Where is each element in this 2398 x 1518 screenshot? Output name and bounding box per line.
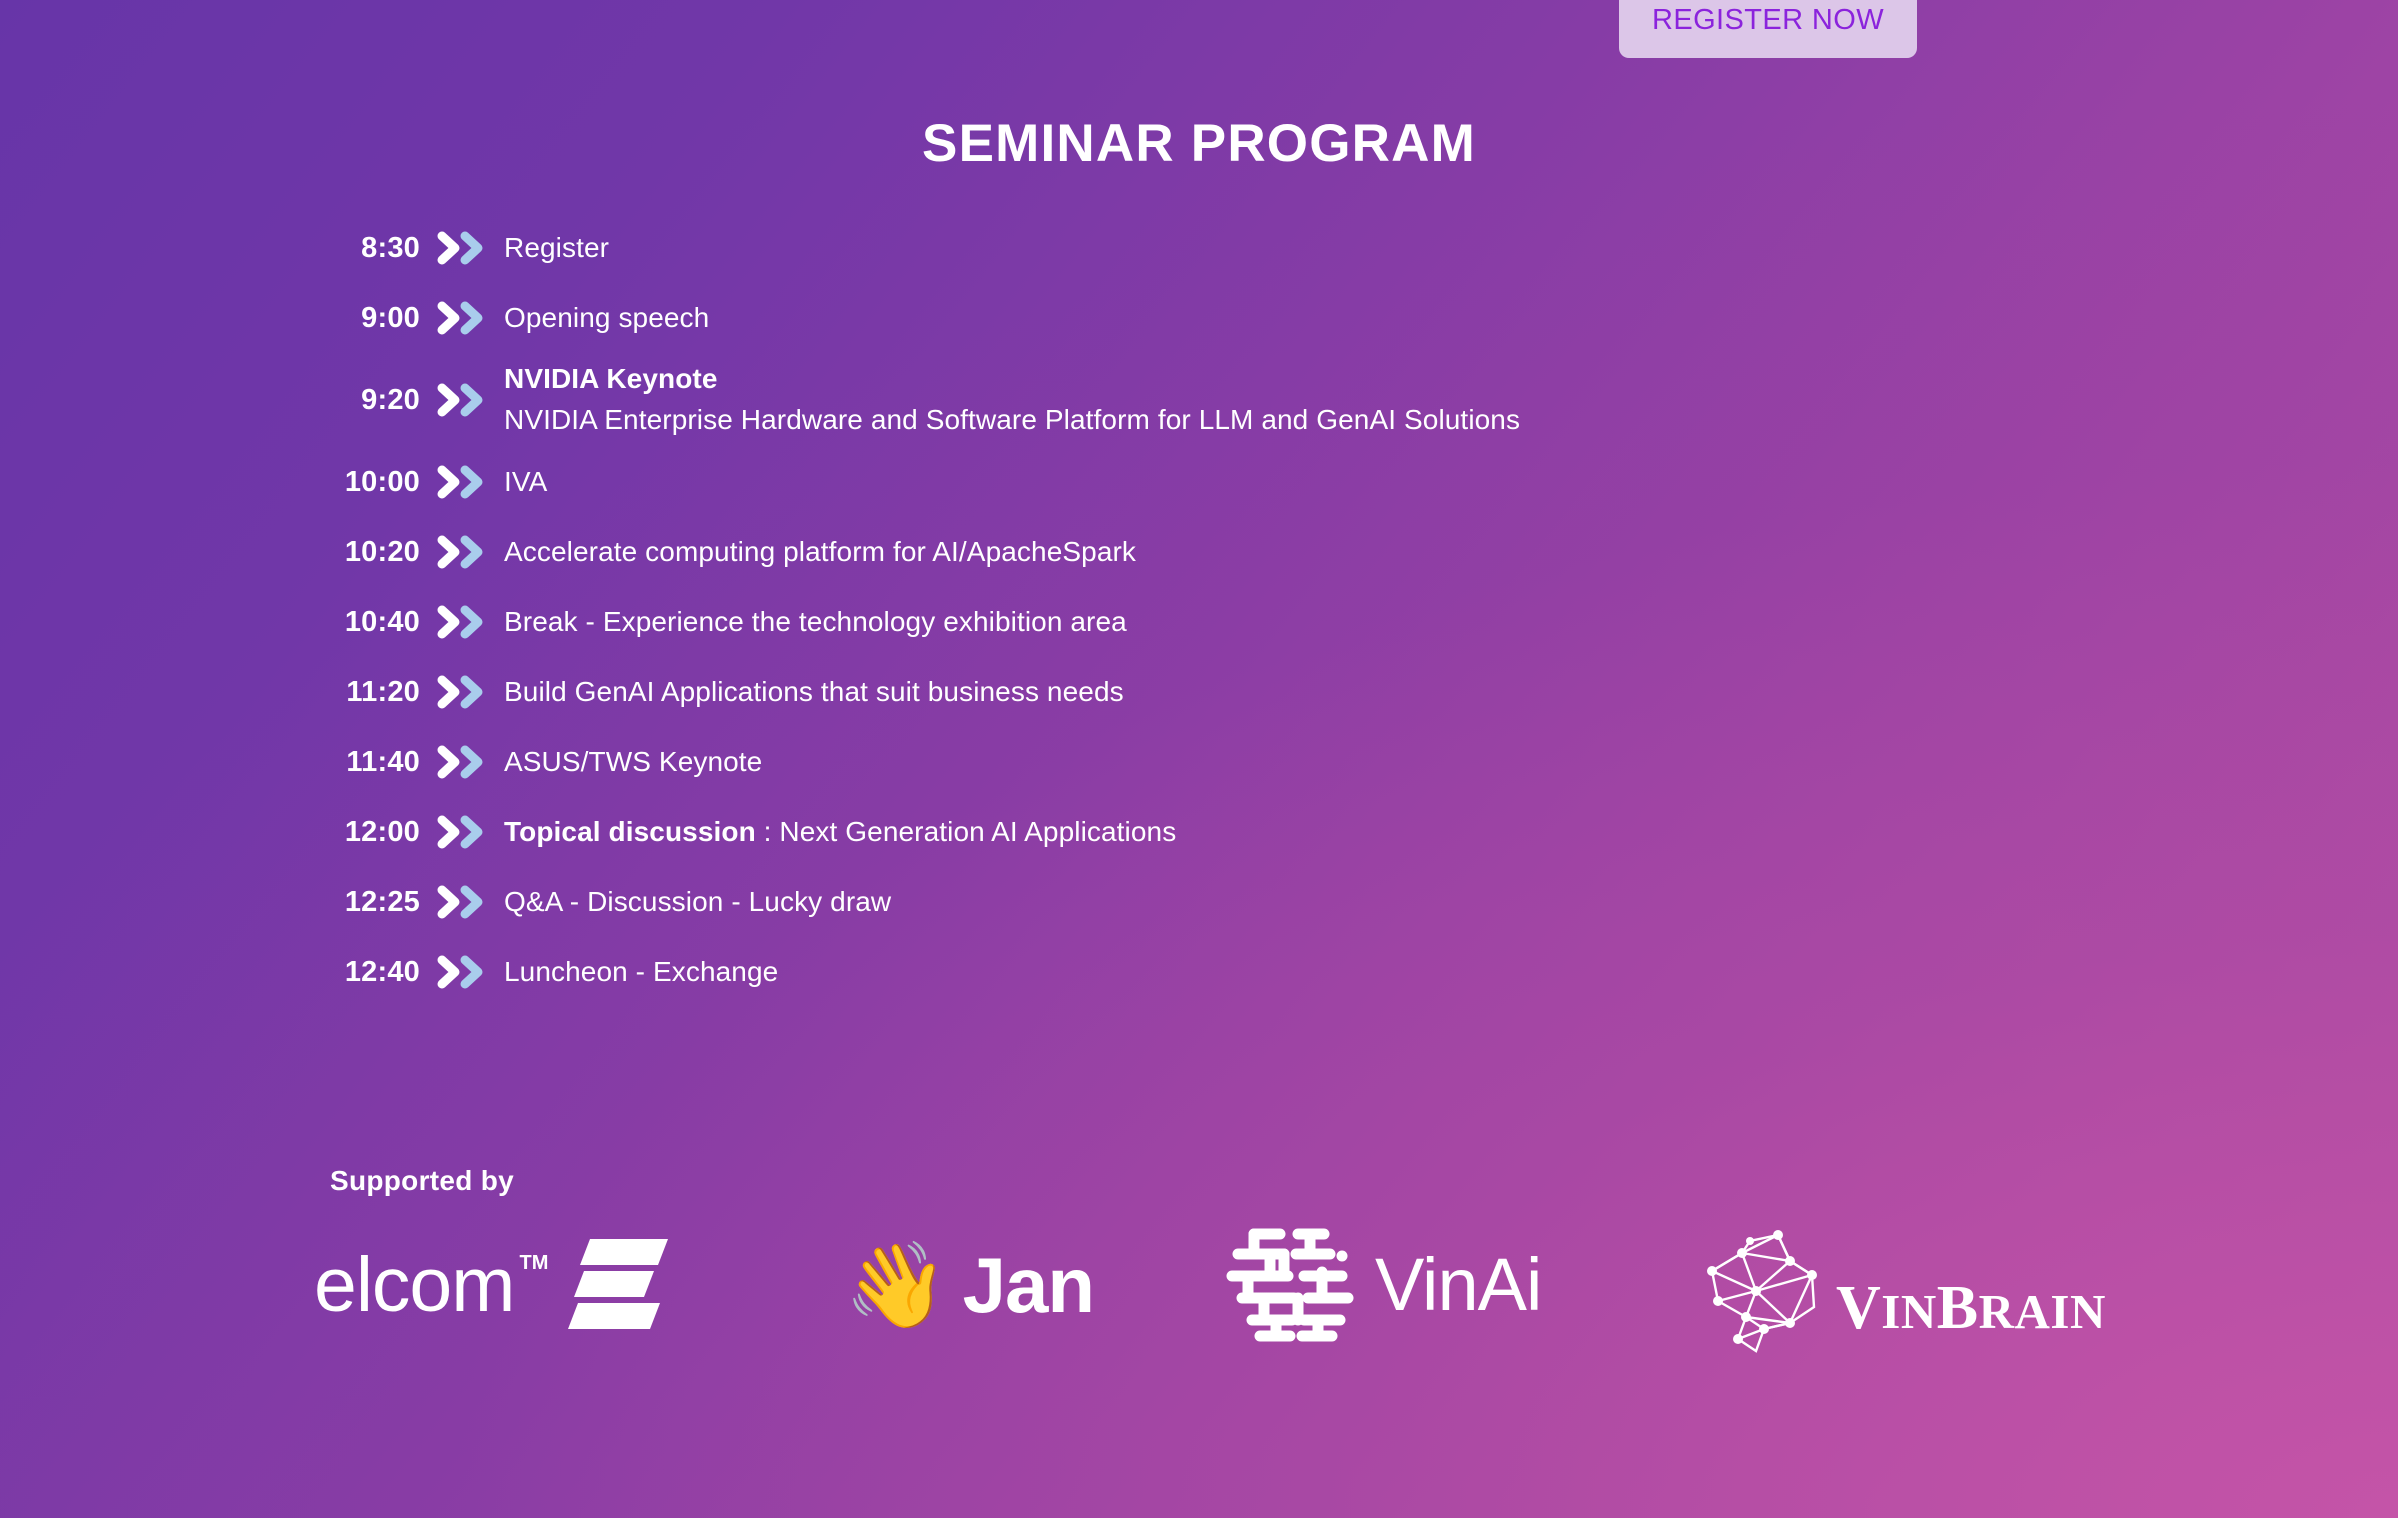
schedule-row-text: NVIDIA Keynote NVIDIA Enterprise Hardwar… — [504, 360, 2030, 439]
seminar-program-slide: REGISTER NOW SEMINAR PROGRAM 8:30 Regist… — [0, 0, 2398, 1518]
schedule-row-time: 11:20 — [330, 676, 420, 709]
register-now-button[interactable]: REGISTER NOW — [1619, 0, 1917, 58]
schedule-row-time: 12:40 — [330, 956, 420, 989]
schedule-row-text: Break - Experience the technology exhibi… — [504, 603, 2030, 642]
schedule-row-time: 10:40 — [330, 606, 420, 639]
schedule-row-text: Register — [504, 229, 2030, 268]
schedule-row-time: 10:00 — [330, 466, 420, 499]
sponsor-logo-vinai: VinAi — [1214, 1215, 1674, 1355]
double-chevron-right-icon — [420, 742, 504, 782]
schedule-row-time: 10:20 — [330, 536, 420, 569]
schedule-row-bold-prefix: Topical discussion — [504, 816, 756, 847]
schedule-row-time: 11:40 — [330, 746, 420, 779]
supported-by-label: Supported by — [330, 1165, 514, 1197]
schedule-row: 12:00 Topical discussion : Next Generati… — [330, 797, 2030, 867]
sponsor-logo-vinbrain: VINBRAIN — [1674, 1215, 2164, 1355]
schedule-row: 11:40 ASUS/TWS Keynote — [330, 727, 2030, 797]
elcom-e-mark-icon — [562, 1235, 672, 1336]
sponsor-logo-jan: 👋 Jan — [804, 1215, 1214, 1355]
double-chevron-right-icon — [420, 952, 504, 992]
sponsor-logo-elcom: elcomTM — [300, 1215, 804, 1355]
schedule-list: 8:30 Register 9:00 Opening speech 9:20 N… — [330, 213, 2030, 1007]
schedule-row-time: 12:00 — [330, 816, 420, 849]
schedule-row-time: 9:20 — [330, 384, 420, 417]
trademark-icon: TM — [520, 1253, 549, 1273]
schedule-row: 10:20 Accelerate computing platform for … — [330, 517, 2030, 587]
schedule-row-rest: : Next Generation AI Applications — [756, 816, 1177, 847]
double-chevron-right-icon — [420, 882, 504, 922]
schedule-row-subtext: NVIDIA Enterprise Hardware and Software … — [504, 401, 2030, 440]
schedule-row: 10:40 Break - Experience the technology … — [330, 587, 2030, 657]
schedule-row-time: 9:00 — [330, 302, 420, 335]
double-chevron-right-icon — [420, 672, 504, 712]
jan-wordmark: Jan — [963, 1246, 1094, 1324]
schedule-row-text: Opening speech — [504, 299, 2030, 338]
double-chevron-right-icon — [420, 462, 504, 502]
schedule-row-text: Build GenAI Applications that suit busin… — [504, 673, 2030, 712]
schedule-row: 11:20 Build GenAI Applications that suit… — [330, 657, 2030, 727]
schedule-row: 8:30 Register — [330, 213, 2030, 283]
sponsor-logo-strip: elcomTM 👋 Jan — [300, 1215, 2180, 1355]
vinbrain-rain: RAIN — [1979, 1284, 2106, 1339]
vinai-wordmark: VinAi — [1375, 1248, 1541, 1322]
schedule-row-text: Topical discussion : Next Generation AI … — [504, 813, 2030, 852]
vinbrain-b: B — [1937, 1274, 1979, 1342]
elcom-wordmark: elcomTM — [314, 1247, 514, 1324]
schedule-row-text: ASUS/TWS Keynote — [504, 743, 2030, 782]
vinai-circuit-mark-icon — [1224, 1224, 1359, 1347]
vinbrain-in: IN — [1881, 1284, 1936, 1339]
schedule-row-text: Accelerate computing platform for AI/Apa… — [504, 533, 2030, 572]
double-chevron-right-icon — [420, 602, 504, 642]
schedule-row: 12:25 Q&A - Discussion - Lucky draw — [330, 867, 2030, 937]
schedule-row: 12:40 Luncheon - Exchange — [330, 937, 2030, 1007]
schedule-row-text: Luncheon - Exchange — [504, 953, 2030, 992]
double-chevron-right-icon — [420, 228, 504, 268]
vinbrain-v: V — [1836, 1274, 1881, 1342]
double-chevron-right-icon — [420, 380, 504, 420]
schedule-row-time: 8:30 — [330, 232, 420, 265]
waving-hand-icon: 👋 — [844, 1243, 949, 1327]
vinbrain-wordmark: VINBRAIN — [1836, 1277, 2106, 1339]
schedule-row: 9:00 Opening speech — [330, 283, 2030, 353]
vinbrain-brain-network-mark-icon — [1694, 1213, 1854, 1358]
page-title: SEMINAR PROGRAM — [0, 113, 2398, 174]
schedule-row: 10:00 IVA — [330, 447, 2030, 517]
schedule-row-text: Q&A - Discussion - Lucky draw — [504, 883, 2030, 922]
schedule-row: 9:20 NVIDIA Keynote NVIDIA Enterprise Ha… — [330, 353, 2030, 447]
elcom-word-text: elcom — [314, 1242, 514, 1328]
double-chevron-right-icon — [420, 532, 504, 572]
schedule-row-headline: NVIDIA Keynote — [504, 360, 2030, 399]
schedule-row-text: IVA — [504, 463, 2030, 502]
double-chevron-right-icon — [420, 298, 504, 338]
double-chevron-right-icon — [420, 812, 504, 852]
schedule-row-time: 12:25 — [330, 886, 420, 919]
